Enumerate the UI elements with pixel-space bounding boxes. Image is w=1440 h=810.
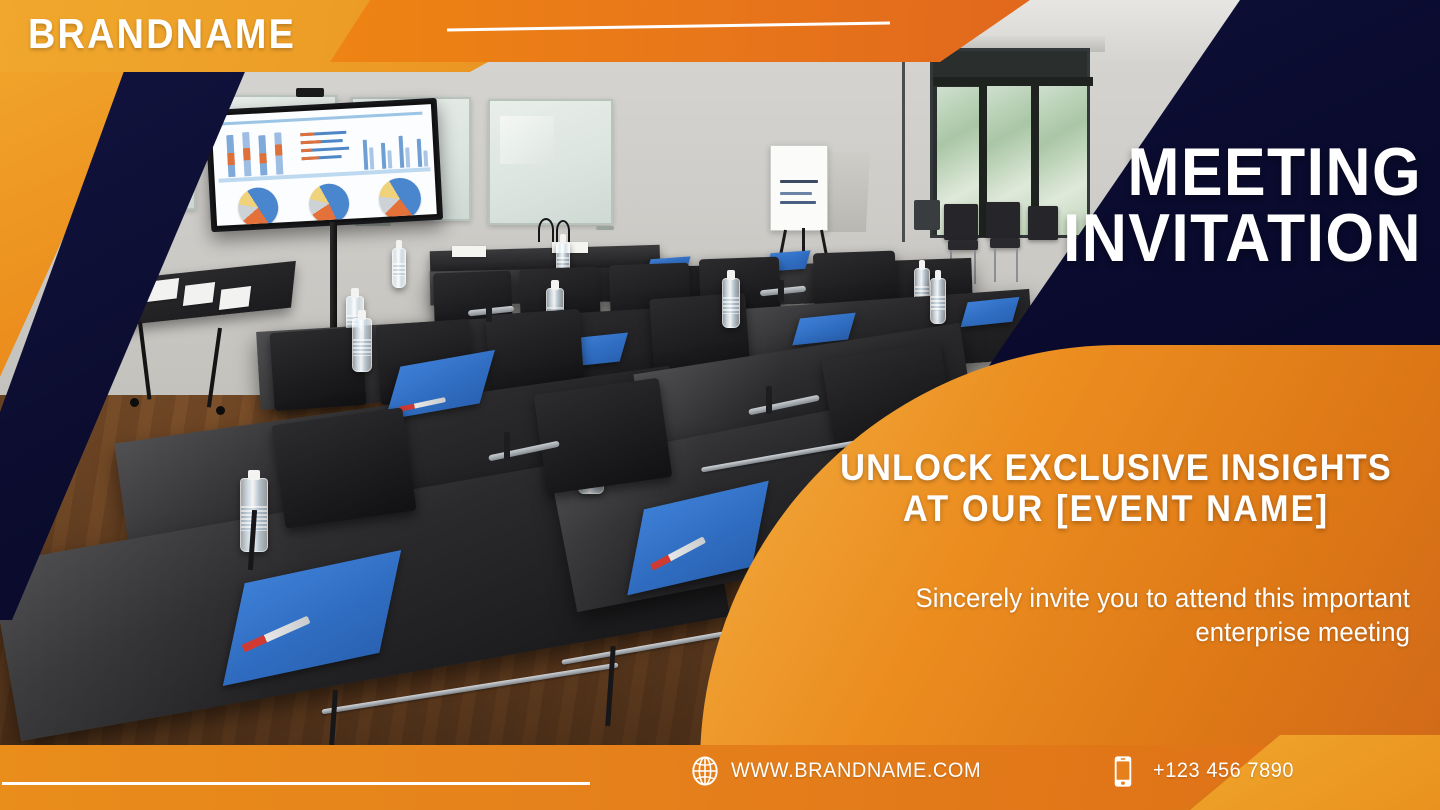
headline: UNLOCK EXCLUSIVE INSIGHTS AT OUR [EVENT … [837,447,1395,530]
brand-name: BRANDNAME [28,10,296,58]
phone-contact[interactable]: +123 456 7890 [1112,755,1302,787]
screen-stand-pole [330,222,337,342]
dashboard-header-bar [220,111,422,125]
website-contact[interactable]: WWW.BRANDNAME.COM [690,755,994,787]
caster-wheel [130,398,139,407]
bar [417,139,423,167]
marker-tray [596,226,614,230]
title-line-2: INVITATION [944,206,1422,272]
bar [423,150,428,166]
whiteboard [488,99,613,225]
flipchart-line [780,192,812,195]
bar [387,150,392,168]
footer-rule [2,782,590,785]
flipchart-line [780,180,818,183]
flipchart-side-panel [826,152,870,232]
chair-post [486,300,492,322]
invitation-subtext: Sincerely invite you to attend this impo… [818,582,1410,650]
bar [405,147,410,167]
header-orange-band [330,0,1030,62]
website-label: WWW.BRANDNAME.COM [731,759,981,783]
bar [259,153,267,163]
page-title: MEETING INVITATION [944,140,1422,272]
subtext-line-2: enterprise meeting [818,616,1410,650]
bar [369,147,374,169]
water-bottle [722,278,740,328]
pie-chart [308,183,350,225]
bar [300,132,314,136]
screen-mount [296,88,324,97]
bar [302,156,319,160]
water-bottle [352,318,372,372]
paper-sheet [183,282,215,306]
wall-equipment [914,200,940,230]
flipchart-board [770,145,828,231]
bar [363,140,369,170]
flipchart-line [780,201,816,204]
headline-line-1: UNLOCK EXCLUSIVE INSIGHTS [837,447,1395,488]
screen-dashboard [211,104,437,226]
bar [243,148,251,160]
bar [227,153,235,165]
bar [275,144,283,155]
phone-label: +123 456 7890 [1153,759,1294,783]
name-plate [452,246,486,257]
bar [399,136,405,168]
subtext-line-1: Sincerely invite you to attend this impo… [818,582,1410,616]
microphone [538,218,554,242]
cable [902,62,905,242]
bar [301,140,321,144]
headline-line-2: AT OUR [EVENT NAME] [837,488,1395,529]
chair [534,378,673,495]
chair [271,407,416,528]
chair-post [778,280,784,302]
pie-chart [378,177,422,221]
water-bottle [930,278,946,324]
water-bottle [392,248,406,288]
globe-icon [690,755,720,787]
pie-chart [237,187,279,226]
bar [381,143,386,169]
paper-sheet [219,286,251,310]
meeting-invitation-poster: BRANDNAME MEETING INVITATION UNLOCK EXCL… [0,0,1440,810]
chair-post [766,386,772,414]
bar [301,149,312,153]
window-mullion [933,77,1093,86]
presentation-screen [205,98,443,232]
chair-post [504,432,510,460]
title-line-1: MEETING [944,140,1422,206]
mobile-phone-icon [1112,755,1142,787]
footer-contacts: WWW.BRANDNAME.COM +123 456 7890 [690,748,1390,794]
caster-wheel [216,406,225,415]
